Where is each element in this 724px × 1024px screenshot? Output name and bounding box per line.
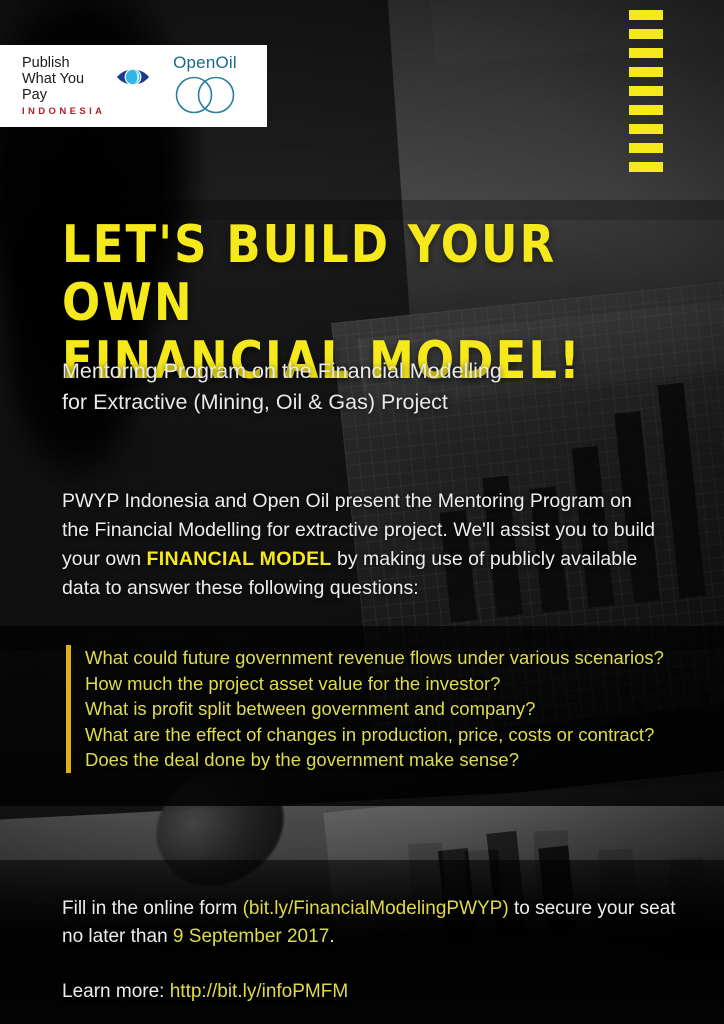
dash-mark [629, 86, 663, 96]
questions-list: What could future government revenue flo… [66, 645, 724, 773]
footer: Fill in the online form (bit.ly/Financia… [62, 895, 682, 1006]
question-item: What are the effect of changes in produc… [85, 722, 724, 748]
logo-lockup: Publish What You Pay INDONESIA OpenOil [0, 45, 267, 127]
subtitle-line-2: for Extractive (Mining, Oil & Gas) Proje… [62, 387, 632, 418]
subtitle: Mentoring Program on the Financial Model… [62, 356, 632, 418]
dash-mark [629, 10, 663, 20]
pwyp-country-label: INDONESIA [22, 106, 150, 117]
learn-more-link[interactable]: http://bit.ly/infoPMFM [170, 981, 348, 1002]
dash-mark [629, 105, 663, 115]
openoil-logo: OpenOil [168, 53, 242, 120]
question-item: What could future government revenue flo… [85, 645, 724, 671]
learn-more-line: Learn more: http://bit.ly/infoPMFM [62, 978, 682, 1006]
pwyp-line-1: Publish [22, 55, 111, 71]
pwyp-line-2: What You Pay [22, 71, 111, 103]
learn-more-prefix: Learn more: [62, 981, 170, 1002]
registration-instruction: Fill in the online form (bit.ly/Financia… [62, 895, 682, 951]
pwyp-logo: Publish What You Pay INDONESIA [22, 55, 150, 117]
dash-decoration [629, 10, 663, 172]
registration-form-link[interactable]: (bit.ly/FinancialModelingPWYP) [243, 898, 509, 919]
deadline-date: 9 September 2017 [173, 926, 329, 947]
dash-mark [629, 124, 663, 134]
footer-text-suffix: . [329, 926, 334, 947]
dash-mark [629, 67, 663, 77]
body-paragraph: PWYP Indonesia and Open Oil present the … [62, 487, 662, 603]
question-item: What is profit split between government … [85, 696, 724, 722]
dash-mark [629, 29, 663, 39]
subtitle-line-1: Mentoring Program on the Financial Model… [62, 356, 632, 387]
footer-text-prefix: Fill in the online form [62, 898, 243, 919]
dash-mark [629, 143, 663, 153]
dash-mark [629, 48, 663, 58]
body-highlight: FINANCIAL MODEL [147, 548, 332, 570]
venn-circles-icon [168, 75, 242, 120]
poster-canvas: Publish What You Pay INDONESIA OpenOil [0, 0, 724, 1024]
openoil-wordmark: OpenOil [173, 53, 237, 73]
headline-line-1: LET'S BUILD YOUR OWN [62, 216, 638, 332]
question-item: How much the project asset value for the… [85, 671, 724, 697]
poster-content: LET'S BUILD YOUR OWN FINANCIAL MODEL! Me… [0, 0, 724, 1024]
eye-icon [116, 66, 150, 93]
dash-mark [629, 162, 663, 172]
question-item: Does the deal done by the government mak… [85, 747, 724, 773]
